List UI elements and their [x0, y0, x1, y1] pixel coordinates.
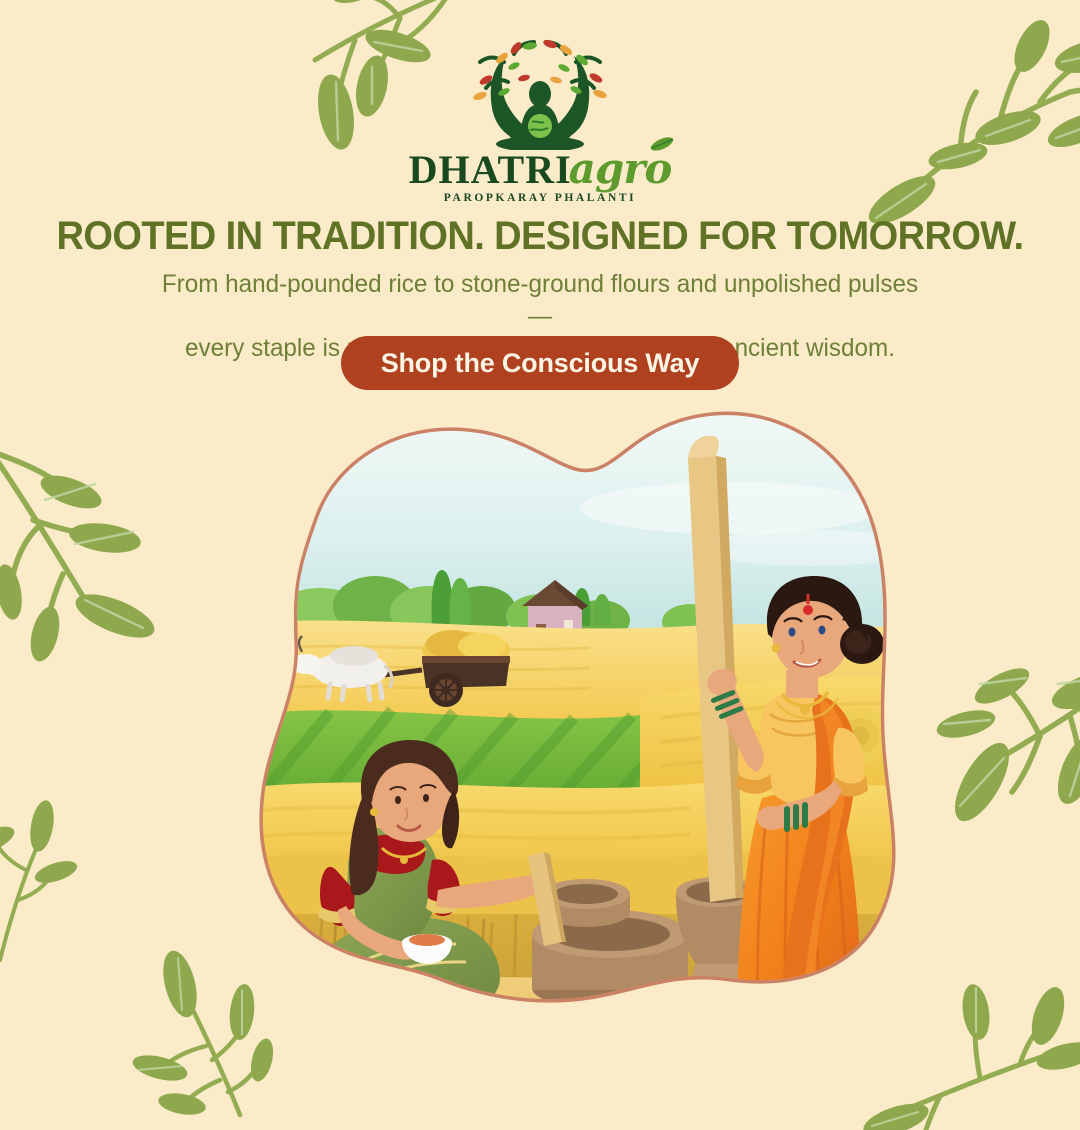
page-title: ROOTED IN TRADITION. DESIGNED FOR TOMORR…	[27, 214, 1053, 259]
scene-contents	[230, 398, 910, 1060]
subtitle-line-1: From hand-pounded rice to stone-ground f…	[152, 268, 928, 332]
small-leaf-icon	[649, 136, 675, 152]
shop-the-conscious-way-button[interactable]: Shop the Conscious Way	[341, 336, 740, 390]
leaf-branch-left	[0, 370, 195, 680]
leaf-sprig-left-lower	[0, 760, 100, 960]
leaf-branch-bottom-right	[880, 980, 1080, 1130]
brand-tagline: PAROPKARAY PHALANTI	[444, 192, 636, 204]
brand-logo[interactable]: DHATRI agro PAROPKARAY PHALANTI	[0, 38, 1080, 204]
brand-name-primary: DHATRI	[409, 150, 572, 190]
leaf-branch-right	[920, 640, 1080, 880]
poster-canvas: DHATRI agro PAROPKARAY PHALANTI ROOTED I…	[0, 0, 1080, 1080]
cta-container: Shop the Conscious Way	[0, 336, 1080, 390]
brand-name-secondary: agro	[569, 148, 672, 190]
tree-with-seated-woman-holding-globe-icon	[460, 38, 620, 150]
rural-women-pounding-grain-illustration	[170, 398, 910, 1060]
brand-wordmark: DHATRI agro	[409, 148, 672, 190]
